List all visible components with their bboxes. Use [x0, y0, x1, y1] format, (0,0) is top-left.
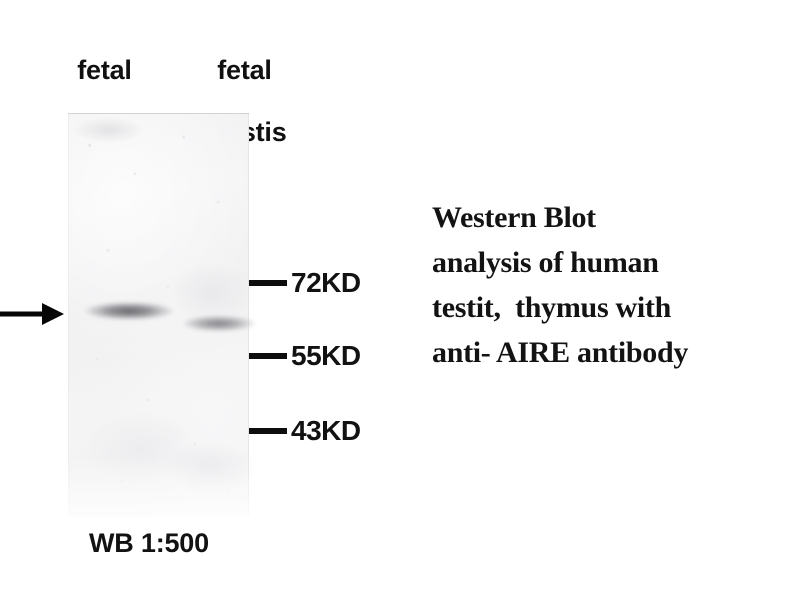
- mw-tick-icon: [249, 353, 287, 359]
- membrane-smudge: [164, 443, 254, 493]
- description-line: anti- AIRE antibody: [432, 330, 792, 375]
- membrane-edge-fade: [68, 457, 249, 517]
- mw-marker-72kd: 72KD: [249, 268, 361, 298]
- protein-band-fetal-thymus: [84, 301, 174, 321]
- description-line: testit, thymus with: [432, 285, 792, 330]
- lane-label-line-1: fetal: [77, 55, 132, 85]
- membrane-texture: [68, 113, 249, 517]
- mw-tick-icon: [249, 280, 287, 286]
- mw-label: 43KD: [291, 416, 361, 446]
- membrane-smudge: [74, 117, 144, 143]
- lane-label-line-1: fetal: [217, 55, 272, 85]
- description-line: analysis of human: [432, 240, 792, 285]
- membrane-smudge: [88, 413, 198, 483]
- membrane-smudge: [172, 263, 252, 323]
- description-line: Western Blot: [432, 195, 792, 240]
- mw-label: 55KD: [291, 341, 361, 371]
- dilution-caption: WB 1:500: [89, 528, 209, 558]
- figure-description: Western Blot analysis of human testit, t…: [432, 195, 792, 375]
- mw-marker-55kd: 55KD: [249, 341, 361, 371]
- blot-membrane: [68, 113, 249, 517]
- protein-band-fetal-testis: [184, 314, 256, 333]
- right-arrow-icon: [0, 300, 66, 328]
- mw-tick-icon: [249, 428, 287, 434]
- mw-label: 72KD: [291, 268, 361, 298]
- western-blot-figure: fetal thymus fetal testis 72KD 55KD 43KD…: [0, 0, 800, 600]
- mw-marker-43kd: 43KD: [249, 416, 361, 446]
